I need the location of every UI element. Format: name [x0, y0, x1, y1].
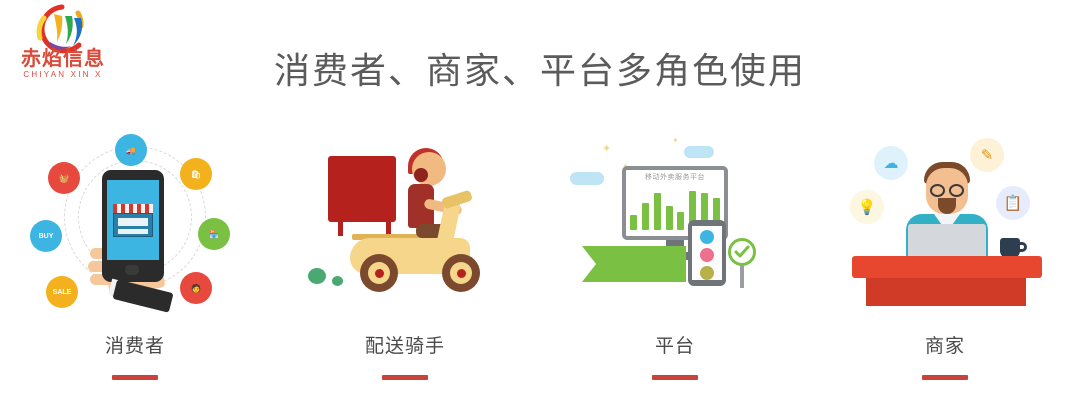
avatar	[700, 266, 714, 280]
customer-icon: 🧑	[180, 272, 212, 304]
sale-tag-icon: SALE	[46, 276, 78, 308]
role-label-rider: 配送骑手	[365, 331, 445, 358]
chart-bar	[630, 215, 637, 230]
cloud-shape	[684, 146, 714, 158]
lightbulb-icon: 💡	[850, 190, 884, 224]
scooter-front-wheel	[442, 254, 480, 292]
role-label-platform: 平台	[655, 331, 695, 358]
sparkle-icon: ✦	[672, 136, 679, 145]
role-columns: 🧺 🚚 🛍 🏪 🧑 SALE BUY 消费者	[0, 128, 1080, 398]
buy-button-icon: BUY	[30, 220, 62, 252]
role-underline-platform	[652, 375, 698, 380]
dashboard-title: 移动外卖服务平台	[628, 172, 722, 182]
page-title: 消费者、商家、平台多角色使用	[0, 42, 1080, 94]
chart-bar	[666, 206, 673, 230]
coffee-mug-handle	[1018, 242, 1027, 252]
chart-bar	[677, 212, 684, 230]
role-label-merchant: 商家	[925, 331, 965, 358]
cloud-shape	[570, 172, 604, 185]
check-badge-icon	[728, 238, 756, 266]
role-column-consumer: 🧺 🚚 🛍 🏪 🧑 SALE BUY 消费者	[0, 128, 270, 398]
green-ribbon-banner	[582, 246, 686, 282]
clipboard-icon: 📋	[996, 186, 1030, 220]
avatar	[700, 230, 714, 244]
delivery-box	[328, 156, 396, 222]
avatar	[700, 248, 714, 262]
consumer-illustration: 🧺 🚚 🛍 🏪 🧑 SALE BUY	[20, 128, 250, 323]
chart-bar	[642, 203, 649, 230]
shop-door	[118, 229, 148, 234]
exhaust-puff	[308, 268, 326, 284]
role-underline-merchant	[922, 375, 968, 380]
role-underline-consumer	[112, 375, 158, 380]
pencil-icon: ✎	[970, 138, 1004, 172]
role-column-platform: ✦ ✦ ✦ 移动外卖服务平台	[540, 128, 810, 398]
chart-bar	[654, 193, 661, 230]
sparkle-icon: ✦	[602, 142, 611, 155]
storefront-icon: 🏪	[198, 218, 230, 250]
glasses-lens-right	[949, 184, 964, 197]
scooter-rear-wheel	[360, 254, 398, 292]
coffee-mug	[1000, 238, 1020, 258]
desk-front-panel	[866, 278, 1026, 306]
glasses-lens-left	[930, 184, 945, 197]
shopping-basket-icon: 🧺	[48, 162, 80, 194]
shopping-bag-icon: 🛍	[180, 158, 212, 190]
cloud-upload-icon: ☁	[874, 146, 908, 180]
delivery-truck-icon: 🚚	[115, 134, 147, 166]
laptop-screen	[908, 224, 986, 260]
rider-illustration	[290, 128, 520, 323]
rider-helmet-earpad	[414, 168, 428, 182]
exhaust-puff	[332, 276, 343, 286]
role-column-rider: 配送骑手	[270, 128, 540, 398]
smartphone-home-button	[125, 265, 139, 275]
desk-top	[852, 256, 1042, 278]
role-column-merchant: ☁ ✎ 💡 📋 商家	[810, 128, 1080, 398]
shop-awning	[113, 204, 153, 213]
platform-illustration: ✦ ✦ ✦ 移动外卖服务平台	[560, 128, 790, 323]
delivery-box-leg	[338, 220, 343, 236]
merchant-illustration: ☁ ✎ 💡 📋	[830, 128, 1060, 323]
role-underline-rider	[382, 375, 428, 380]
shop-window	[118, 218, 148, 226]
role-label-consumer: 消费者	[105, 331, 165, 358]
